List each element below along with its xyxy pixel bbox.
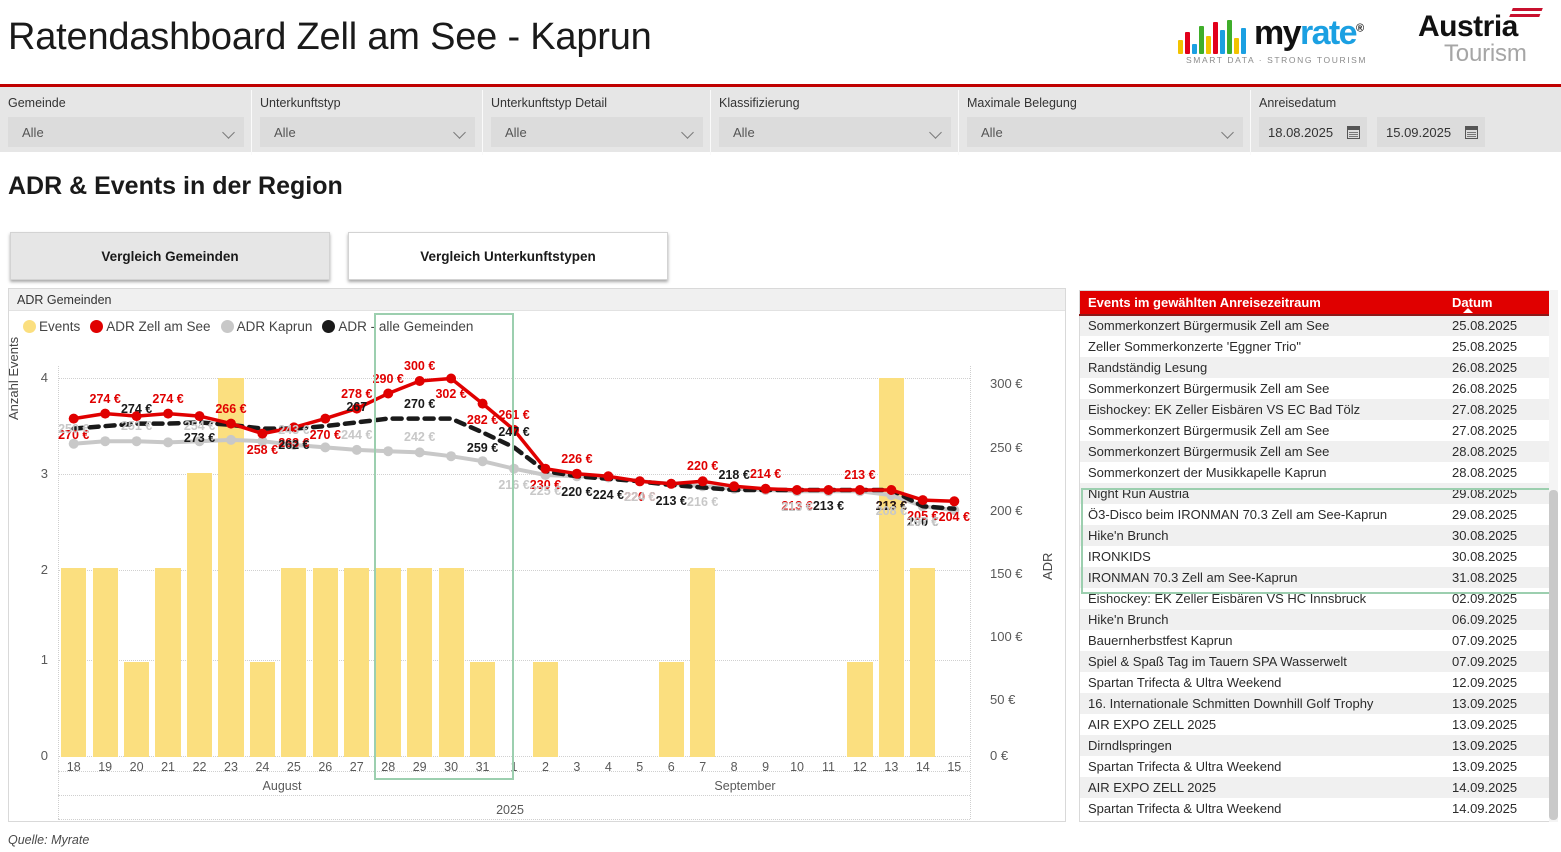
data-label-zell-am-see: 274 € [152, 392, 183, 406]
table-row[interactable]: Sommerkonzert der Musikkapelle Kaprun28.… [1080, 462, 1553, 483]
x-tick: 19 [92, 760, 118, 774]
data-label-zell-am-see: 226 € [561, 452, 592, 466]
event-name-cell: Spartan Trifecta & Ultra Weekend [1088, 759, 1281, 774]
chevron-down-icon [454, 128, 467, 136]
y-tick-right-250: 250 € [990, 440, 1023, 455]
app-header: Ratendashboard Zell am See - Kaprun myra… [0, 0, 1561, 84]
event-date-cell: 26.08.2025 [1452, 360, 1517, 375]
x-tick: 14 [910, 760, 936, 774]
event-name-cell: Sommerkonzert Bürgermusik Zell am See [1088, 444, 1329, 459]
events-scrollbar-thumb[interactable] [1549, 490, 1558, 820]
date-to-value: 15.09.2025 [1386, 125, 1451, 140]
x-tick: 3 [564, 760, 590, 774]
chart-legend: Events ADR Zell am See ADR Kaprun ADR - … [23, 319, 480, 334]
table-row[interactable]: 16. Internationale Schmitten Downhill Go… [1080, 693, 1553, 714]
event-date-cell: 30.08.2025 [1452, 549, 1517, 564]
event-date-cell: 12.09.2025 [1452, 675, 1517, 690]
table-row[interactable]: IRONMAN 70.3 Zell am See-Kaprun31.08.202… [1080, 567, 1553, 588]
data-label-alle-gemeinden: 273 € [184, 431, 215, 445]
data-label-kaprun: 197 € [907, 515, 938, 529]
legend-label-zell-am-see[interactable]: ADR Zell am See [106, 319, 210, 334]
table-row[interactable]: Spartan Trifecta & Ultra Weekend13.09.20… [1080, 756, 1553, 777]
x-tick: 1 [501, 760, 527, 774]
event-name-cell: Spartan Trifecta & Ultra Weekend [1088, 801, 1281, 816]
event-name-cell: Spartan Trifecta & Ultra Weekend [1088, 675, 1281, 690]
event-name-cell: IRONMAN 70.3 Zell am See-Kaprun [1088, 570, 1298, 585]
x-axis-ticks: 1819202122232425262728293031123456789101… [58, 760, 970, 780]
table-row[interactable]: Hike'n Brunch06.09.2025 [1080, 609, 1553, 630]
filter-klassifizierung-label: Klassifizierung [719, 96, 800, 110]
data-label-alle-gemeinden: 267 [346, 400, 367, 414]
x-tick: 2 [532, 760, 558, 774]
x-tick: 8 [721, 760, 747, 774]
sort-ascending-icon[interactable] [1463, 308, 1473, 313]
data-label-alle-gemeinden: 213 € [813, 499, 844, 513]
y-tick-left-0: 0 [28, 748, 48, 763]
filter-gemeinde: Gemeinde Alle [0, 90, 252, 155]
event-date-cell: 07.09.2025 [1452, 633, 1517, 648]
x-tick: 28 [375, 760, 401, 774]
event-date-cell: 28.08.2025 [1452, 465, 1517, 480]
event-name-cell: Zeller Sommerkonzerte 'Eggner Trio" [1088, 339, 1301, 354]
event-name-cell: Ö3-Disco beim IRONMAN 70.3 Zell am See-K… [1088, 507, 1387, 522]
x-tick: 15 [941, 760, 967, 774]
filter-gemeinde-label: Gemeinde [8, 96, 66, 110]
calendar-icon[interactable] [1465, 126, 1478, 139]
x-tick: 4 [595, 760, 621, 774]
chevron-down-icon [1222, 128, 1235, 136]
event-date-cell: 26.08.2025 [1452, 381, 1517, 396]
x-tick: 27 [344, 760, 370, 774]
event-date-cell: 25.08.2025 [1452, 339, 1517, 354]
x-tick: 26 [312, 760, 338, 774]
data-label-zell-am-see: 302 € [435, 387, 466, 401]
x-tick: 5 [627, 760, 653, 774]
x-group-year: 2025 [470, 803, 550, 817]
event-date-cell: 13.09.2025 [1452, 696, 1517, 711]
table-row[interactable]: Spiel & Spaß Tag im Tauern SPA Wasserwel… [1080, 651, 1553, 672]
filter-unterkunftstyp-detail-value: Alle [505, 125, 527, 140]
data-label-zell-am-see: 290 € [373, 372, 404, 386]
data-label-zell-am-see: 258 € [247, 443, 278, 457]
filter-unterkunftstyp-label: Unterkunftstyp [260, 96, 341, 110]
event-date-cell: 14.09.2025 [1452, 780, 1517, 795]
event-date-cell: 28.08.2025 [1452, 444, 1517, 459]
data-label-kaprun: 216 € [687, 495, 718, 509]
date-from-field[interactable]: 18.08.2025 [1259, 117, 1367, 147]
table-row[interactable]: Dirndlspringen13.09.2025 [1080, 735, 1553, 756]
event-date-cell: 30.08.2025 [1452, 528, 1517, 543]
x-tick: 9 [753, 760, 779, 774]
legend-swatch-kaprun [221, 320, 234, 333]
event-date-cell: 13.09.2025 [1452, 717, 1517, 732]
events-table-body[interactable]: Sommerkonzert Bürgermusik Zell am See25.… [1080, 315, 1553, 822]
event-name-cell: Sommerkonzert Bürgermusik Zell am See [1088, 318, 1329, 333]
legend-label-kaprun[interactable]: ADR Kaprun [237, 319, 313, 334]
data-label-zell-am-see: 282 € [467, 413, 498, 427]
data-label-kaprun: 225 € [530, 484, 561, 498]
event-name-cell: Randständig Lesung [1088, 360, 1207, 375]
x-tick: 21 [155, 760, 181, 774]
event-date-cell: 27.08.2025 [1452, 402, 1517, 417]
data-label-alle-gemeinden: 274 € [121, 402, 152, 416]
filter-unterkunftstyp-detail: Unterkunftstyp Detail Alle [483, 90, 711, 155]
filter-unterkunftstyp: Unterkunftstyp Alle [252, 90, 483, 155]
data-label-alle-gemeinden: 220 € [561, 485, 592, 499]
table-row[interactable]: AIR EXPO ZELL 202514.09.2025 [1080, 777, 1553, 798]
table-row[interactable]: IRONKIDS30.08.2025 [1080, 546, 1553, 567]
event-name-cell: AIR EXPO ZELL 2025 [1088, 717, 1216, 732]
data-label-kaprun: 242 € [404, 430, 435, 444]
data-label-kaprun: 208 € [876, 504, 907, 518]
data-label-kaprun: 216 € [498, 478, 529, 492]
y-tick-left-3: 3 [28, 466, 48, 481]
table-row[interactable]: Zeller Sommerkonzerte 'Eggner Trio"25.08… [1080, 336, 1553, 357]
event-name-cell: Night Run Austria [1088, 486, 1189, 501]
data-label-kaprun: 224 € [624, 490, 655, 504]
event-date-cell: 27.08.2025 [1452, 423, 1517, 438]
filter-maximale-belegung-label: Maximale Belegung [967, 96, 1077, 110]
table-row[interactable]: AIR EXPO ZELL 202513.09.2025 [1080, 714, 1553, 735]
x-tick: 7 [690, 760, 716, 774]
data-label-zell-am-see: 266 € [215, 402, 246, 416]
chart-panel-header: ADR Gemeinden [9, 289, 1065, 311]
filter-klassifizierung: Klassifizierung Alle [711, 90, 959, 155]
legend-swatch-zell-am-see [90, 320, 103, 333]
data-label-alle-gemeinden: 270 € [404, 397, 435, 411]
myrate-logo: myrate® SMART DATA · STRONG TOURISM [1178, 14, 1388, 69]
table-row[interactable]: Randständig Lesung26.08.2025 [1080, 357, 1553, 378]
filter-gemeinde-value: Alle [22, 125, 44, 140]
data-label-alle-gemeinden: 213 € [656, 494, 687, 508]
y-axis-left-title: Anzahl Events [6, 337, 21, 420]
table-row[interactable]: Spartan Trifecta & Ultra Weekend12.09.20… [1080, 672, 1553, 693]
filter-klassifizierung-value: Alle [733, 125, 755, 140]
legend-label-events[interactable]: Events [39, 319, 80, 334]
x-tick: 24 [249, 760, 275, 774]
date-to-field[interactable]: 15.09.2025 [1377, 117, 1485, 147]
x-tick: 10 [784, 760, 810, 774]
filter-unterkunftstyp-detail-label: Unterkunftstyp Detail [491, 96, 607, 110]
legend-swatch-events [23, 320, 36, 333]
event-name-cell: Sommerkonzert der Musikkapelle Kaprun [1088, 465, 1326, 480]
y-tick-right-200: 200 € [990, 503, 1023, 518]
data-label-alle-gemeinden: 262 € [278, 438, 309, 452]
data-label-kaprun: 244 € [341, 428, 372, 442]
y-tick-right-300: 300 € [990, 376, 1023, 391]
x-group-september: September [685, 779, 805, 793]
table-row[interactable]: Ö3-Disco beim IRONMAN 70.3 Zell am See-K… [1080, 504, 1553, 525]
filter-unterkunftstyp-value: Alle [274, 125, 296, 140]
data-label-zell-am-see: 300 € [404, 359, 435, 373]
y-tick-right-0: 0 € [990, 748, 1008, 763]
events-table-panel: Events im gewählten Anreisezeitraum Datu… [1079, 290, 1554, 822]
table-row[interactable]: Bauernherbstfest Kaprun07.09.2025 [1080, 630, 1553, 651]
data-label-zell-am-see: 220 € [687, 459, 718, 473]
chart-panel-title: ADR Gemeinden [17, 293, 112, 307]
events-table-header: Events im gewählten Anreisezeitraum Datu… [1080, 291, 1553, 315]
x-tick: 13 [878, 760, 904, 774]
y-tick-right-150: 150 € [990, 566, 1023, 581]
table-row[interactable]: Spartan Trifecta & Ultra Weekend14.09.20… [1080, 798, 1553, 819]
legend-swatch-alle-gemeinden [322, 320, 335, 333]
myrate-bars-icon [1178, 20, 1250, 54]
x-tick: 22 [187, 760, 213, 774]
table-row[interactable]: Hike'n Brunch30.08.2025 [1080, 525, 1553, 546]
filter-anreisedatum-label: Anreisedatum [1259, 96, 1336, 110]
data-label-zell-am-see: 213 € [844, 468, 875, 482]
x-tick: 31 [470, 760, 496, 774]
event-name-cell: AIR EXPO ZELL 2025 [1088, 780, 1216, 795]
event-date-cell: 13.09.2025 [1452, 738, 1517, 753]
adr-data-labels: 270 €274 €274 €266 €258 €263 €270 €278 €… [58, 366, 970, 757]
event-date-cell: 25.08.2025 [1452, 318, 1517, 333]
data-label-zell-am-see: 270 € [310, 428, 341, 442]
events-header-underline [1079, 314, 1554, 316]
data-label-alle-gemeinden: 224 € [593, 488, 624, 502]
legend-label-alle-gemeinden[interactable]: ADR - alle Gemeinden [338, 319, 473, 334]
event-name-cell: Eishockey: EK Zeller Eisbären VS HC Inns… [1088, 591, 1366, 606]
event-name-cell: Sommerkonzert Bürgermusik Zell am See [1088, 381, 1329, 396]
chevron-down-icon [223, 128, 236, 136]
event-date-cell: 31.08.2025 [1452, 570, 1517, 585]
event-date-cell: 14.09.2025 [1452, 801, 1517, 816]
event-name-cell: Dirndlspringen [1088, 738, 1172, 753]
myrate-rate-text: rate [1300, 14, 1356, 52]
filter-gemeinde-select[interactable]: Alle [8, 117, 244, 147]
filter-maximale-belegung: Maximale Belegung Alle [959, 90, 1251, 155]
table-row[interactable]: Sommerkonzert Bürgermusik Zell am See27.… [1080, 420, 1553, 441]
myrate-my-text: my [1254, 14, 1300, 52]
filter-unterkunftstyp-detail-select[interactable]: Alle [491, 117, 703, 147]
page-title: Ratendashboard Zell am See - Kaprun [8, 16, 652, 59]
x-tick: 23 [218, 760, 244, 774]
x-axis-year-line [58, 819, 970, 820]
x-tick: 30 [438, 760, 464, 774]
data-label-alle-gemeinden: 218 € [718, 468, 749, 482]
x-tick: 12 [847, 760, 873, 774]
event-name-cell: Bauernherbstfest Kaprun [1088, 633, 1233, 648]
x-tick: 20 [124, 760, 150, 774]
filter-klassifizierung-select[interactable]: Alle [719, 117, 951, 147]
x-tick: 18 [61, 760, 87, 774]
event-name-cell: Hike'n Brunch [1088, 612, 1169, 627]
section-title: ADR & Events in der Region [8, 172, 343, 201]
event-name-cell: Spiel & Spaß Tag im Tauern SPA Wasserwel… [1088, 654, 1347, 669]
filter-anreisedatum: Anreisedatum 18.08.2025 15.09.2025 [1251, 90, 1561, 155]
calendar-icon[interactable] [1347, 126, 1360, 139]
y-tick-right-100: 100 € [990, 629, 1023, 644]
tourism-text: Tourism [1444, 40, 1527, 68]
event-date-cell: 02.09.2025 [1452, 591, 1517, 606]
data-label-kaprun: 254 € [184, 419, 215, 433]
myrate-wordmark: myrate® [1254, 14, 1362, 53]
table-row[interactable]: Night Run Austria29.08.2025 [1080, 483, 1553, 504]
data-label-zell-am-see: 214 € [750, 467, 781, 481]
austria-tourism-logo: Austria Tourism [1418, 8, 1553, 70]
y-tick-left-4: 4 [28, 370, 48, 385]
chevron-down-icon [930, 128, 943, 136]
event-date-cell: 29.08.2025 [1452, 507, 1517, 522]
filter-unterkunftstyp-select[interactable]: Alle [260, 117, 475, 147]
event-name-cell: 16. Internationale Schmitten Downhill Go… [1088, 696, 1373, 711]
filter-maximale-belegung-select[interactable]: Alle [967, 117, 1243, 147]
axis-line-right [970, 366, 971, 819]
events-col-name-header[interactable]: Events im gewählten Anreisezeitraum [1088, 295, 1321, 310]
tab-vergleich-unterkunftstypen[interactable]: Vergleich Unterkunftstypen [348, 232, 668, 280]
x-tick: 11 [815, 760, 841, 774]
y-axis-right-title: ADR [1040, 553, 1055, 580]
table-row[interactable]: Sommerkonzert Bürgermusik Zell am See25.… [1080, 315, 1553, 336]
filter-bar: Gemeinde Alle Unterkunftstyp Alle Unterk… [0, 84, 1561, 152]
event-name-cell: Hike'n Brunch [1088, 528, 1169, 543]
data-label-alle-gemeinden: 247 € [498, 425, 529, 439]
table-row[interactable]: Sommerkonzert Bürgermusik Zell am See26.… [1080, 378, 1553, 399]
data-label-zell-am-see: 274 € [90, 392, 121, 406]
myrate-tagline: SMART DATA · STRONG TOURISM [1186, 55, 1367, 65]
y-tick-left-2: 2 [28, 562, 48, 577]
x-tick: 6 [658, 760, 684, 774]
data-label-alle-gemeinden: 259 € [467, 441, 498, 455]
data-label-zell-am-see: 204 € [939, 510, 970, 524]
table-row[interactable]: Sommerkonzert Bürgermusik Zell am See28.… [1080, 441, 1553, 462]
x-tick: 29 [407, 760, 433, 774]
tab-vergleich-gemeinden[interactable]: Vergleich Gemeinden [10, 232, 330, 280]
table-row[interactable]: Eishockey: EK Zeller Eisbären VS EC Bad … [1080, 399, 1553, 420]
austria-text: Austria [1418, 10, 1518, 44]
table-row[interactable]: Eishockey: EK Zeller Eisbären VS HC Inns… [1080, 588, 1553, 609]
event-name-cell: Sommerkonzert Bürgermusik Zell am See [1088, 423, 1329, 438]
event-date-cell: 06.09.2025 [1452, 612, 1517, 627]
x-axis-group-line [58, 795, 970, 796]
event-name-cell: IRONKIDS [1088, 549, 1151, 564]
event-date-cell: 13.09.2025 [1452, 759, 1517, 774]
registered-mark-icon: ® [1356, 23, 1363, 35]
filter-maximale-belegung-value: Alle [981, 125, 1003, 140]
data-label-zell-am-see: 261 € [498, 408, 529, 422]
event-date-cell: 29.08.2025 [1452, 486, 1517, 501]
date-from-value: 18.08.2025 [1268, 125, 1333, 140]
y-tick-right-50: 50 € [990, 692, 1015, 707]
data-label-kaprun: 213 € [781, 500, 812, 514]
data-label-kaprun: 250 € [58, 422, 89, 436]
data-label-zell-am-see: 278 € [341, 387, 372, 401]
data-label-kaprun: 243 € [278, 423, 309, 437]
data-label-kaprun: 251 € [121, 419, 152, 433]
event-date-cell: 07.09.2025 [1452, 654, 1517, 669]
x-group-august: August [222, 779, 342, 793]
y-tick-left-1: 1 [28, 652, 48, 667]
source-note: Quelle: Myrate [8, 833, 89, 847]
chevron-down-icon [682, 128, 695, 136]
event-name-cell: Eishockey: EK Zeller Eisbären VS EC Bad … [1088, 402, 1360, 417]
x-tick: 25 [281, 760, 307, 774]
